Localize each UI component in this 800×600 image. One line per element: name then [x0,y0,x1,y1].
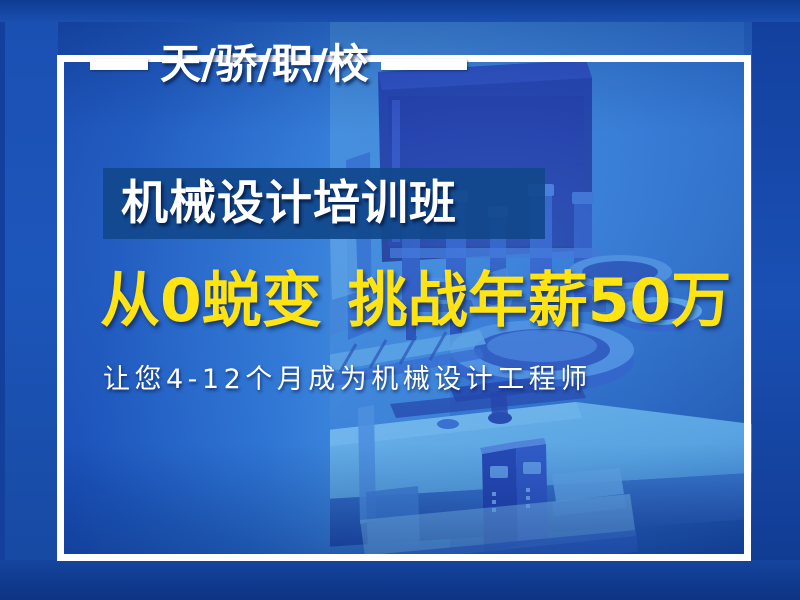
subtitle: 让您4-12个月成为机械设计工程师 [103,364,793,400]
dash-right-icon [381,59,467,70]
headline-part-2: 挑战年薪50万 [348,266,732,336]
dash-left-icon [90,59,148,70]
course-title-band: 机械设计培训班 [103,168,545,239]
headline-part-1: 从0蜕变 [100,266,322,336]
headline: 从0蜕变挑战年薪50万 [100,268,800,336]
course-title: 机械设计培训班 [121,180,457,227]
left-gutter [0,0,58,600]
poster-canvas: 天/骄/职/校 机械设计培训班 从0蜕变挑战年薪50万 让您4-12个月成为机械… [0,0,800,600]
brand-name: 天/骄/职/校 [160,44,369,85]
left-edge-strip [0,0,5,600]
brand-lockup: 天/骄/职/校 [90,38,540,90]
bottom-strip [0,560,800,600]
top-strip [0,0,800,22]
